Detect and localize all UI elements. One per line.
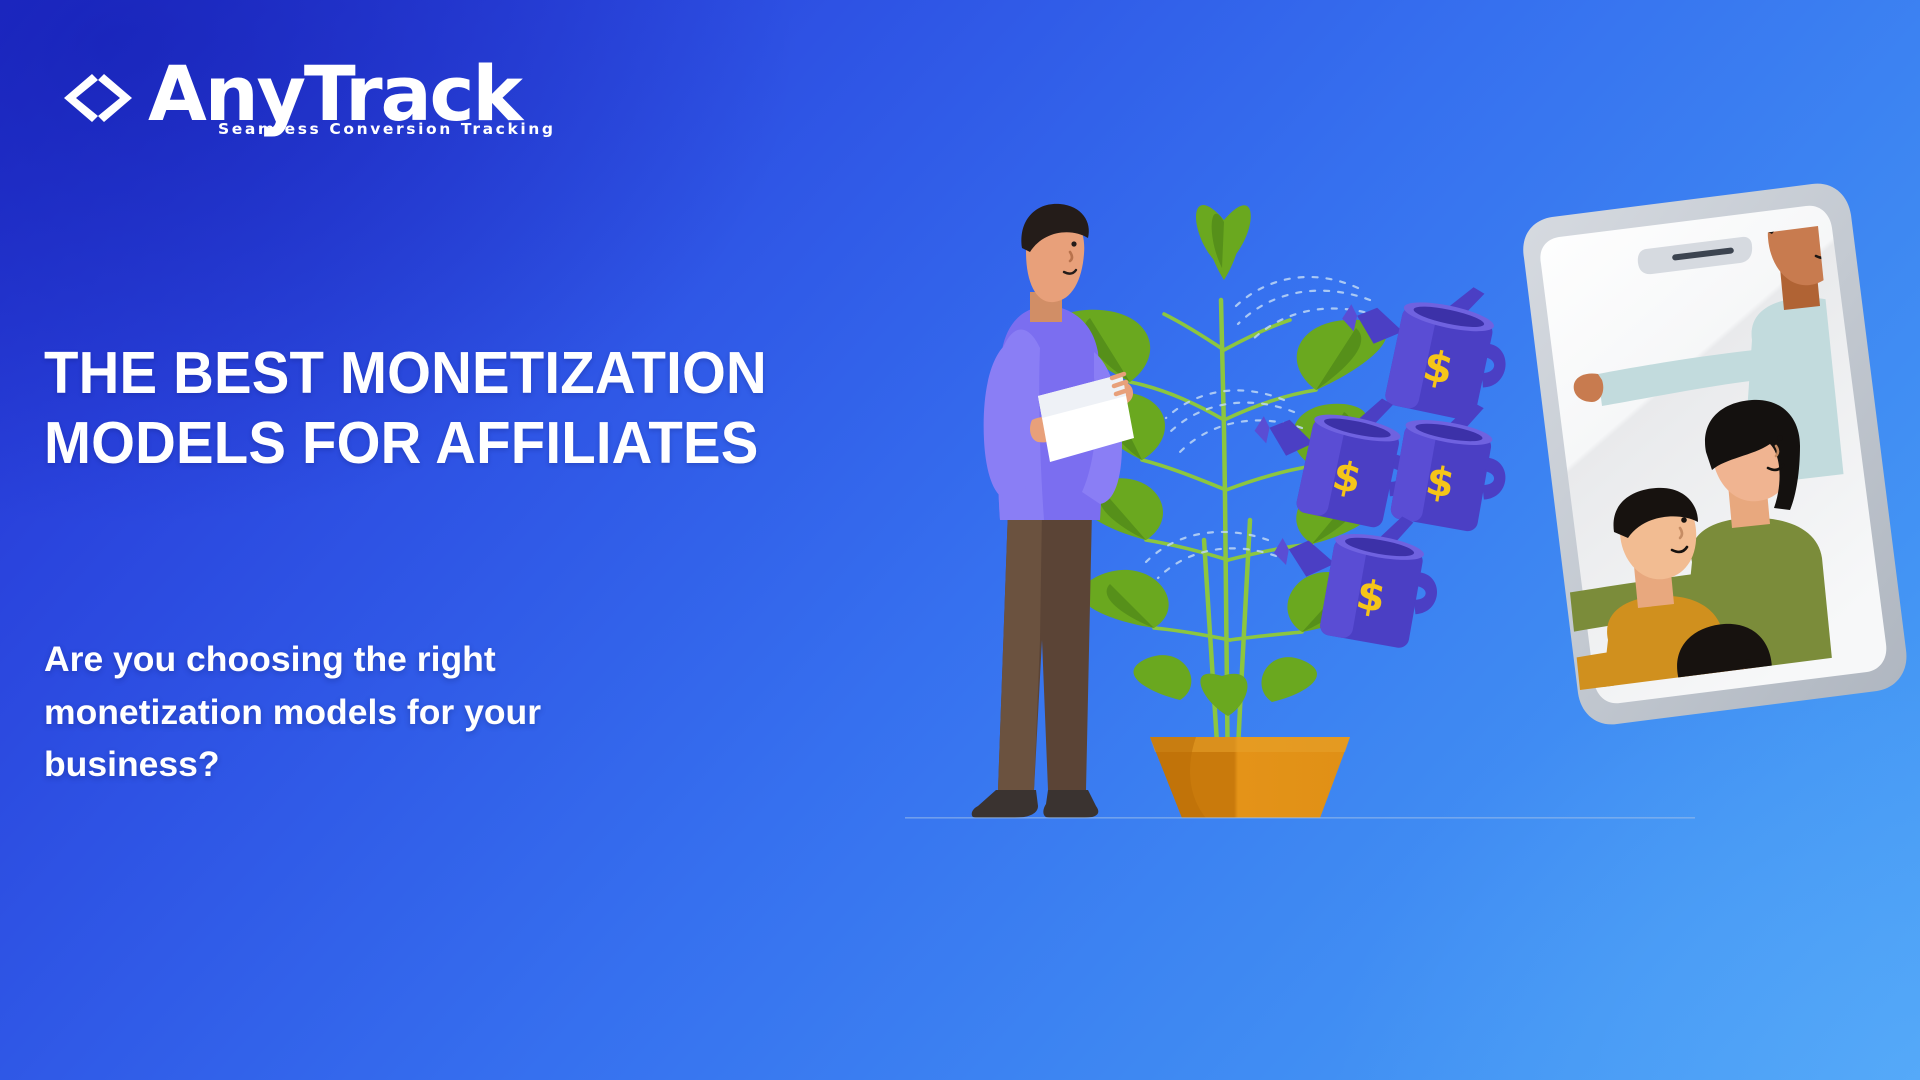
- shoe-left: [972, 790, 1038, 818]
- anytrack-logo[interactable]: AnyTrack Seamless Conversion Tracking: [62, 58, 521, 129]
- page-title: THE BEST MONETIZATION MODELS FOR AFFILIA…: [44, 338, 837, 478]
- subheadline: Are you choosing the right monetization …: [44, 633, 684, 791]
- ground-line: [905, 817, 1695, 819]
- headline-line-1: THE BEST MONETIZATION: [44, 338, 837, 408]
- smartphone: [1484, 184, 1907, 960]
- shoe-right: [1043, 790, 1098, 818]
- hero-illustration: $ $ $: [0, 0, 1920, 1080]
- code-chevron-icon: [62, 72, 134, 124]
- brand-name: AnyTrack: [148, 58, 521, 129]
- watering-cans: $ $ $: [1146, 262, 1520, 653]
- hero-banner: $ $ $: [0, 0, 1920, 1080]
- headline-line-2: MODELS FOR AFFILIATES: [44, 408, 837, 478]
- brand-tagline: Seamless Conversion Tracking: [218, 120, 556, 138]
